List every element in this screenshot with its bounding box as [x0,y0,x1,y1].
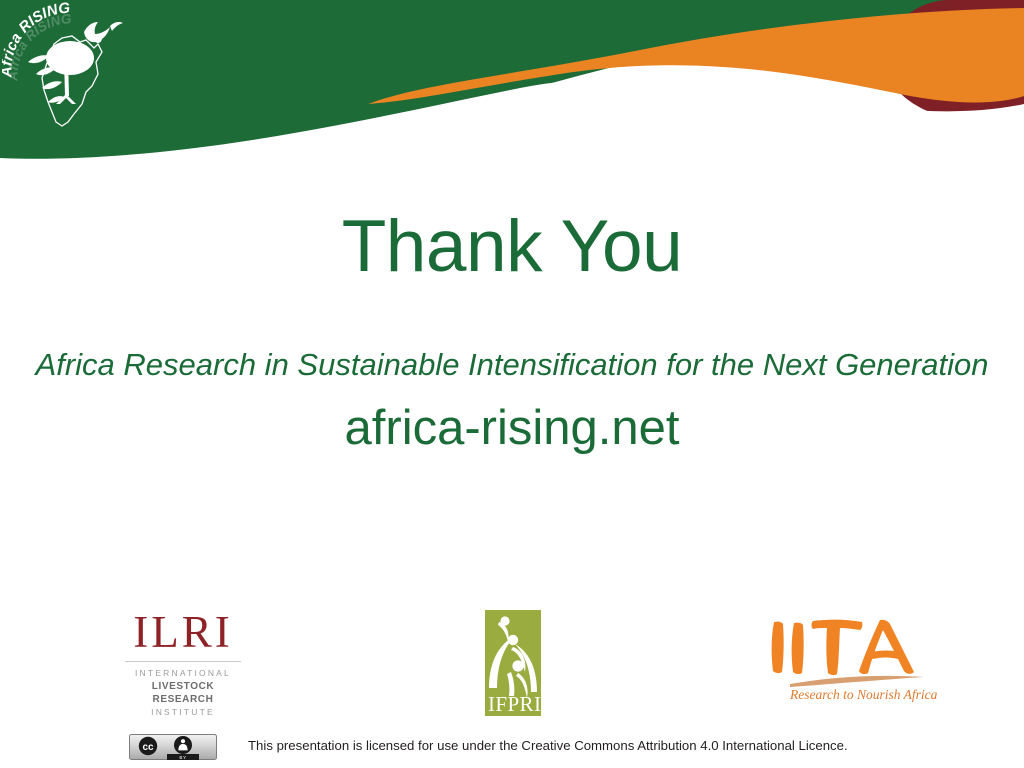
ilri-subtitle-line1: INTERNATIONAL [124,667,242,680]
ifpri-wordmark: IFPRI [488,692,541,716]
iita-strapline: Research to Nourish Africa [789,687,938,702]
acacia-tree-icon [46,41,94,104]
license-footer: cc BY This presentation is licensed for … [0,733,1024,763]
ilri-subtitle-line2: LIVESTOCK RESEARCH [124,680,242,706]
ilri-logo[interactable]: ILRI INTERNATIONAL LIVESTOCK RESEARCH IN… [124,608,242,719]
creative-commons-by-badge[interactable]: cc BY [129,734,217,760]
africa-rising-logo: Africa RISING Africa RISING [2,0,130,132]
partner-logo-row: ILRI INTERNATIONAL LIVESTOCK RESEARCH IN… [0,598,1024,718]
svg-text:cc: cc [142,742,154,753]
iita-underline-swoosh [790,676,924,687]
page-title: Thank You [0,205,1024,289]
ilri-subtitle-line3: INSTITUTE [124,706,242,719]
cc-logo-icon: cc [139,737,157,755]
ilri-wordmark: ILRI [124,608,242,657]
iita-logo[interactable]: Research to Nourish Africa [768,616,938,702]
website-url[interactable]: africa-rising.net [0,398,1024,458]
cow-head-icon [84,22,123,43]
ifpri-logo[interactable]: IFPRI [485,610,541,716]
cc-by-label: BY [179,755,186,760]
cc-by-person-icon [174,736,192,754]
program-tagline: Africa Research in Sustainable Intensifi… [0,343,1024,387]
ilri-divider-rule [125,661,241,662]
headline-block: Thank You [0,205,1024,289]
iita-wordmark-brushstrokes [772,620,914,675]
header-swoosh-band [0,0,1024,172]
license-statement: This presentation is licensed for use un… [248,737,848,755]
slide-canvas: Africa RISING Africa RISING [0,0,1024,768]
